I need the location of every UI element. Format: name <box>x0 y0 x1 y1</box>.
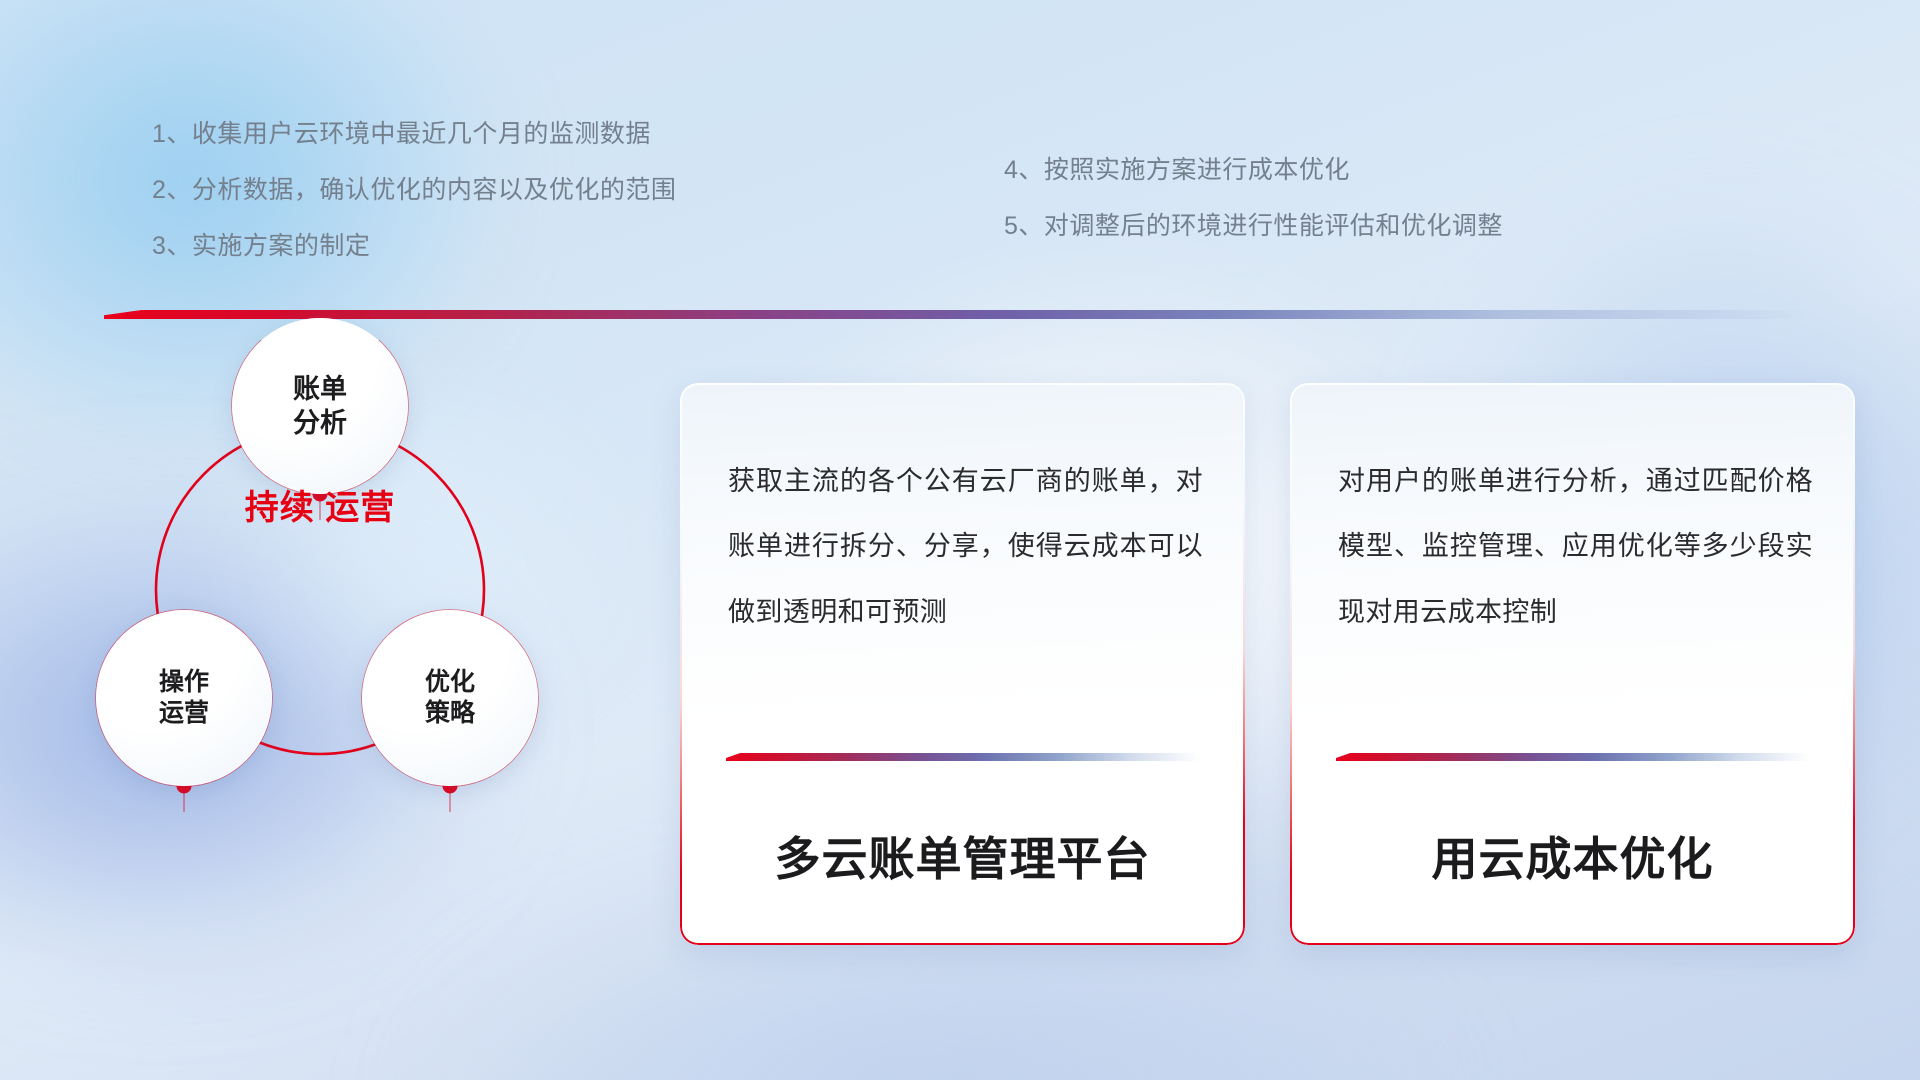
bubble-operations-line1: 操作 <box>159 667 209 699</box>
card-2-title: 用云成本优化 <box>1290 823 1855 889</box>
center-label-line1: 持续 <box>245 489 315 527</box>
step-item-3: 3、实施方案的制定 <box>152 234 676 259</box>
continuous-operations-diagram: 账单 分析 操作 运营 优化 策略 持续 运营 <box>90 340 670 960</box>
step-item-5: 5、对调整后的环境进行性能评估和优化调整 <box>1004 214 1503 239</box>
card-2-body-text: 对用户的账单进行分析，通过匹配价格模型、监控管理、应用优化等多少段实现对用云成本… <box>1338 449 1813 645</box>
bubble-operations-line2: 运营 <box>159 698 209 730</box>
bubble-optimization-strategy-line1: 优化 <box>425 667 475 699</box>
bubble-bill-analysis[interactable]: 账单 分析 <box>232 318 408 494</box>
bubble-optimization-strategy[interactable]: 优化 策略 <box>362 610 538 786</box>
header-gradient-divider <box>104 310 1810 319</box>
bubble-operations[interactable]: 操作 运营 <box>96 610 272 786</box>
card-multi-cloud-bill-platform[interactable]: 获取主流的各个公有云厂商的账单，对账单进行拆分、分享，使得云成本可以做到透明和可… <box>680 383 1245 945</box>
steps-right-column: 4、按照实施方案进行成本优化 5、对调整后的环境进行性能评估和优化调整 <box>1004 158 1503 239</box>
bubble-optimization-strategy-line2: 策略 <box>425 698 475 730</box>
step-item-1: 1、收集用户云环境中最近几个月的监测数据 <box>152 122 676 147</box>
step-item-4: 4、按照实施方案进行成本优化 <box>1004 158 1503 183</box>
slide-canvas: 1、收集用户云环境中最近几个月的监测数据 2、分析数据，确认优化的内容以及优化的… <box>0 0 1920 1080</box>
card-cloud-cost-optimization[interactable]: 对用户的账单进行分析，通过匹配价格模型、监控管理、应用优化等多少段实现对用云成本… <box>1290 383 1855 945</box>
center-label-line2: 运营 <box>325 489 395 527</box>
step-item-2: 2、分析数据，确认优化的内容以及优化的范围 <box>152 178 676 203</box>
card-1-title: 多云账单管理平台 <box>680 823 1245 889</box>
card-2-gradient-divider <box>1336 753 1810 761</box>
card-1-gradient-divider <box>726 753 1200 761</box>
bubble-bill-analysis-line2: 分析 <box>293 406 347 440</box>
diagram-center-label: 持续 运营 <box>238 488 402 529</box>
card-1-body-text: 获取主流的各个公有云厂商的账单，对账单进行拆分、分享，使得云成本可以做到透明和可… <box>728 449 1203 645</box>
bubble-bill-analysis-line1: 账单 <box>293 372 347 406</box>
steps-left-column: 1、收集用户云环境中最近几个月的监测数据 2、分析数据，确认优化的内容以及优化的… <box>152 122 676 259</box>
